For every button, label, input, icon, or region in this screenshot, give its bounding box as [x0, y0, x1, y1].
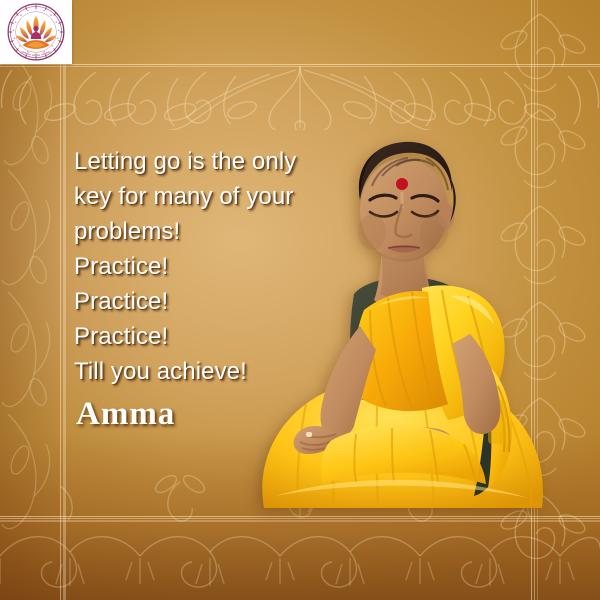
quote-block: Letting go is the only key for many of y…	[74, 144, 324, 389]
lotus-flame-emblem-icon	[7, 3, 65, 61]
quote-poster: Letting go is the only key for many of y…	[0, 0, 600, 600]
quote-line-6: Practice!	[74, 319, 324, 354]
quote-line-2: key for many of your	[74, 179, 324, 214]
author-name: Amma	[76, 396, 175, 433]
quote-line-7: Till you achieve!	[74, 354, 324, 389]
left-rule-line	[60, 0, 66, 600]
bottom-rule-line	[0, 516, 600, 522]
top-rule-line	[0, 64, 600, 69]
quote-line-4: Practice!	[74, 249, 324, 284]
organization-logo[interactable]	[0, 0, 72, 64]
quote-line-5: Practice!	[74, 284, 324, 319]
quote-line-3: problems!	[74, 214, 324, 249]
ring	[306, 432, 312, 437]
quote-line-1: Letting go is the only	[74, 144, 324, 179]
bindi	[396, 178, 408, 190]
